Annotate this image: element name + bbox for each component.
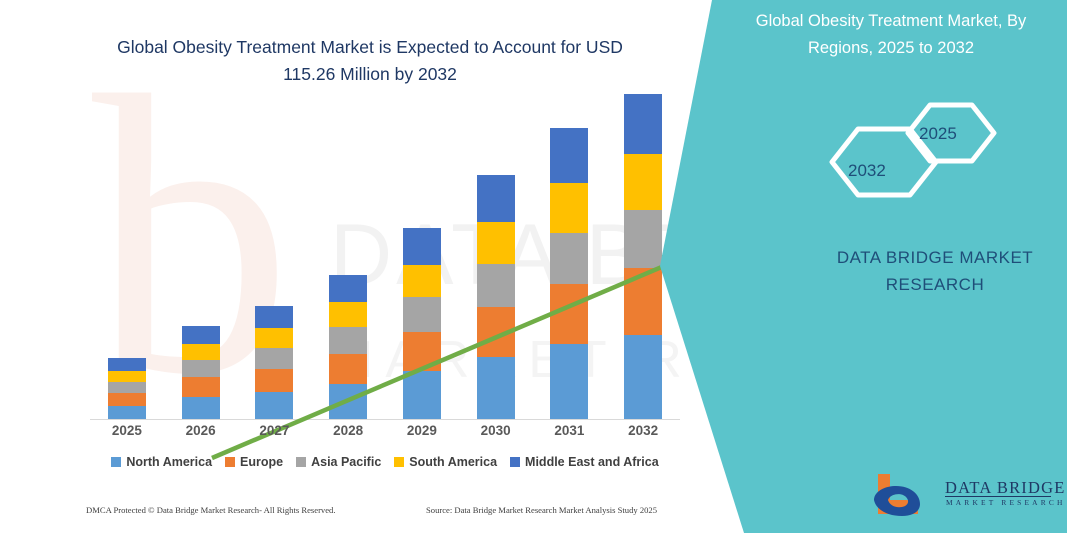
- brand-line1: DATA BRIDGE MARKET: [837, 248, 1033, 267]
- hexagon-label-2032: 2032: [848, 161, 886, 181]
- brand-line2: RESEARCH: [886, 275, 984, 294]
- logo-subtitle: MARKET RESEARCH: [946, 498, 1066, 507]
- hexagon-group: 2032 2025: [820, 95, 1010, 220]
- logo-divider: [945, 496, 1051, 497]
- panel-title: Global Obesity Treatment Market, By Regi…: [726, 8, 1056, 62]
- infographic-canvas: b DATA BRIDGE MARKET RESEARCH Global Obe…: [0, 0, 1067, 533]
- logo-wordmark: DATA BRIDGE: [945, 478, 1066, 498]
- hexagon-label-2025: 2025: [919, 124, 957, 144]
- brand-block: DATA BRIDGE MARKET RESEARCH: [790, 244, 1067, 298]
